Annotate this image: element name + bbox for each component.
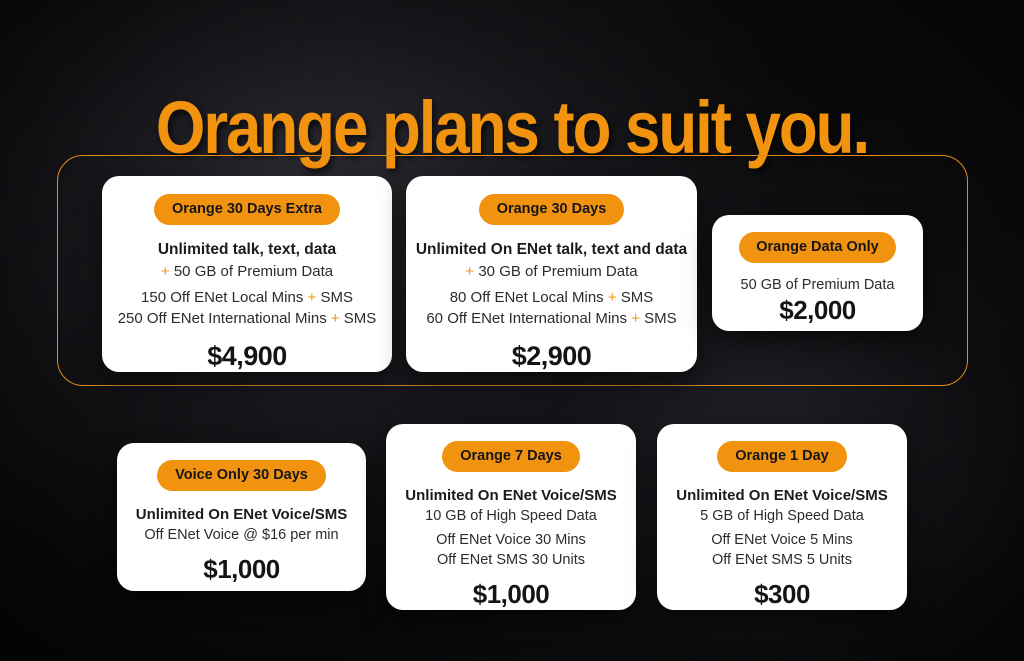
plus-icon: +	[331, 310, 340, 327]
plan-card-orange-7-days[interactable]: Orange 7 Days Unlimited On ENet Voice/SM…	[386, 424, 636, 610]
plan-detail-1-text: 150 Off ENet Local Mins	[141, 289, 307, 306]
plan-card-orange-30-days[interactable]: Orange 30 Days Unlimited On ENet talk, t…	[406, 176, 697, 372]
plus-icon: +	[161, 263, 170, 280]
plan-detail-1-tail: SMS	[316, 289, 353, 306]
plan-badge: Voice Only 30 Days	[157, 460, 326, 491]
plan-feature-main: Unlimited On ENet talk, text and data	[416, 241, 687, 259]
plan-feature-main: Unlimited On ENet Voice/SMS	[405, 487, 616, 504]
promo-page: Orange plans to suit you. Orange 30 Days…	[0, 0, 1024, 661]
plan-feature-main: Unlimited On ENet Voice/SMS	[676, 487, 887, 504]
plan-card-voice-only-30-days[interactable]: Voice Only 30 Days Unlimited On ENet Voi…	[117, 443, 366, 591]
plus-icon: +	[631, 310, 640, 327]
plan-detail-2-text: 250 Off ENet International Mins	[118, 310, 331, 327]
plan-detail-2: Off ENet SMS 30 Units	[437, 552, 585, 568]
plan-detail-1-text: 80 Off ENet Local Mins	[450, 289, 608, 306]
plan-feature-sub: 10 GB of High Speed Data	[425, 508, 597, 524]
page-title: Orange plans to suit you.	[72, 91, 953, 165]
plus-icon: +	[308, 289, 317, 306]
plus-icon: +	[608, 289, 617, 306]
plan-badge: Orange 30 Days	[479, 194, 625, 225]
plan-feature-sub: 50 GB of Premium Data	[741, 277, 895, 293]
plan-detail-1: Off ENet Voice 5 Mins	[711, 532, 853, 548]
plan-feature-sub: Off ENet Voice @ $16 per min	[144, 527, 338, 543]
plan-detail-2: 60 Off ENet International Mins + SMS	[426, 310, 676, 327]
plan-price: $2,000	[779, 295, 856, 326]
plan-badge: Orange 30 Days Extra	[154, 194, 340, 225]
plan-card-orange-data-only[interactable]: Orange Data Only 50 GB of Premium Data $…	[712, 215, 923, 331]
plan-detail-2-text: 60 Off ENet International Mins	[426, 310, 631, 327]
plan-price: $300	[754, 579, 810, 610]
plan-feature-main: Unlimited On ENet Voice/SMS	[136, 506, 347, 523]
plan-feature-sub: 5 GB of High Speed Data	[700, 508, 864, 524]
plan-feature-sub-text: 30 GB of Premium Data	[478, 263, 637, 280]
plan-card-orange-30-days-extra[interactable]: Orange 30 Days Extra Unlimited talk, tex…	[102, 176, 392, 372]
plan-price: $1,000	[473, 579, 550, 610]
plan-card-orange-1-day[interactable]: Orange 1 Day Unlimited On ENet Voice/SMS…	[657, 424, 907, 610]
plan-feature-main: Unlimited talk, text, data	[158, 241, 336, 259]
plus-icon: +	[465, 263, 474, 280]
plan-detail-2-tail: SMS	[640, 310, 677, 327]
plan-detail-1: 150 Off ENet Local Mins + SMS	[141, 289, 353, 306]
plan-detail-2: Off ENet SMS 5 Units	[712, 552, 852, 568]
plan-price: $2,900	[512, 341, 592, 372]
plan-detail-1: 80 Off ENet Local Mins + SMS	[450, 289, 654, 306]
plan-price: $1,000	[203, 554, 280, 585]
plan-badge: Orange 7 Days	[442, 441, 580, 472]
plan-detail-2: 250 Off ENet International Mins + SMS	[118, 310, 377, 327]
plan-badge: Orange 1 Day	[717, 441, 847, 472]
plan-feature-sub: + 30 GB of Premium Data	[465, 263, 637, 280]
plan-detail-2-tail: SMS	[340, 310, 377, 327]
plan-feature-sub: + 50 GB of Premium Data	[161, 263, 333, 280]
plan-price: $4,900	[207, 341, 287, 372]
plan-detail-1-tail: SMS	[617, 289, 654, 306]
plan-detail-1: Off ENet Voice 30 Mins	[436, 532, 586, 548]
plan-feature-sub-text: 50 GB of Premium Data	[174, 263, 333, 280]
plan-badge: Orange Data Only	[739, 232, 895, 263]
